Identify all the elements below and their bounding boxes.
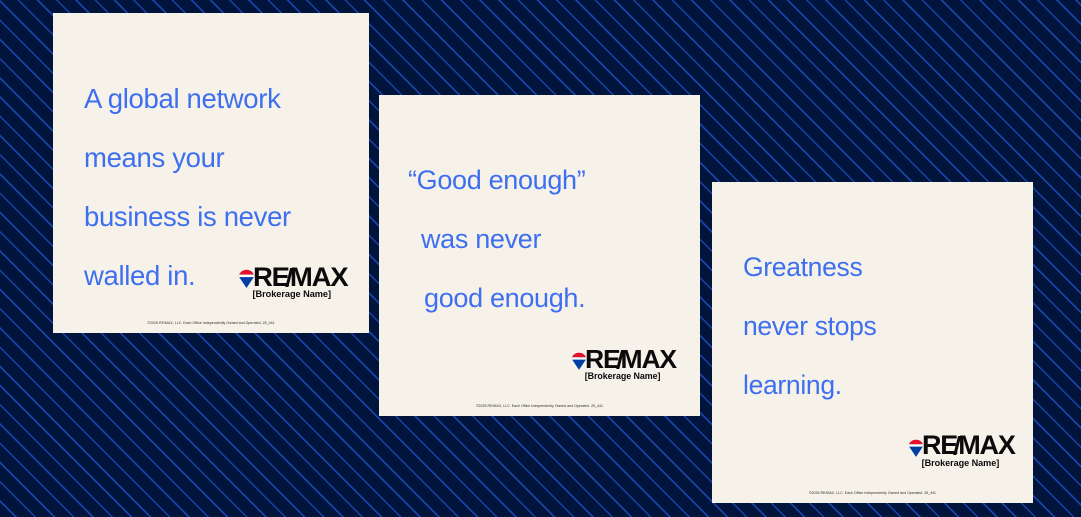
remax-logo-lockup: REMAX [Brokerage Name] xyxy=(908,435,1013,468)
remax-wordmark: REMAX xyxy=(585,349,676,370)
greatness-card[interactable]: Greatness never stops learning. REMAX [B… xyxy=(712,182,1033,503)
wordmark-re: RE xyxy=(922,430,957,460)
remax-logo-lockup: REMAX [Brokerage Name] xyxy=(238,266,346,299)
remax-wordmark: REMAX xyxy=(922,435,1015,457)
headline-line: good enough. xyxy=(408,284,585,314)
headline-line: learning. xyxy=(743,371,877,401)
headline-line: was never xyxy=(408,225,585,255)
card-headline: Greatness never stops learning. xyxy=(743,223,877,430)
headline-line: A global network xyxy=(84,84,291,114)
legal-fineprint: ©2025 RE/MAX, LLC. Each Office Independe… xyxy=(53,321,369,325)
good-enough-card[interactable]: “Good enough” was never good enough. REM… xyxy=(379,95,700,416)
remax-logo-row: REMAX xyxy=(571,349,674,370)
wordmark-max: MAX xyxy=(621,344,676,374)
wordmark-max: MAX xyxy=(290,262,347,292)
legal-fineprint: ©2025 RE/MAX, LLC. Each Office Independe… xyxy=(712,491,1033,495)
slide-canvas: A global network means your business is … xyxy=(0,0,1081,517)
remax-logo-row: REMAX xyxy=(238,266,346,288)
global-network-card[interactable]: A global network means your business is … xyxy=(53,13,369,333)
headline-line: business is never xyxy=(84,202,291,232)
remax-logo-row: REMAX xyxy=(908,435,1013,457)
remax-logo-lockup: REMAX [Brokerage Name] xyxy=(571,349,674,381)
headline-line: never stops xyxy=(743,312,877,342)
remax-wordmark: REMAX xyxy=(253,266,347,288)
headline-line: means your xyxy=(84,143,291,173)
wordmark-max: MAX xyxy=(958,430,1014,460)
headline-line: Greatness xyxy=(743,253,877,283)
wordmark-re: RE xyxy=(253,262,289,292)
wordmark-re: RE xyxy=(585,344,619,374)
legal-fineprint: ©2025 RE/MAX, LLC. Each Office Independe… xyxy=(379,404,700,408)
card-headline: “Good enough” was never good enough. xyxy=(408,136,585,343)
headline-line: “Good enough” xyxy=(408,166,585,196)
